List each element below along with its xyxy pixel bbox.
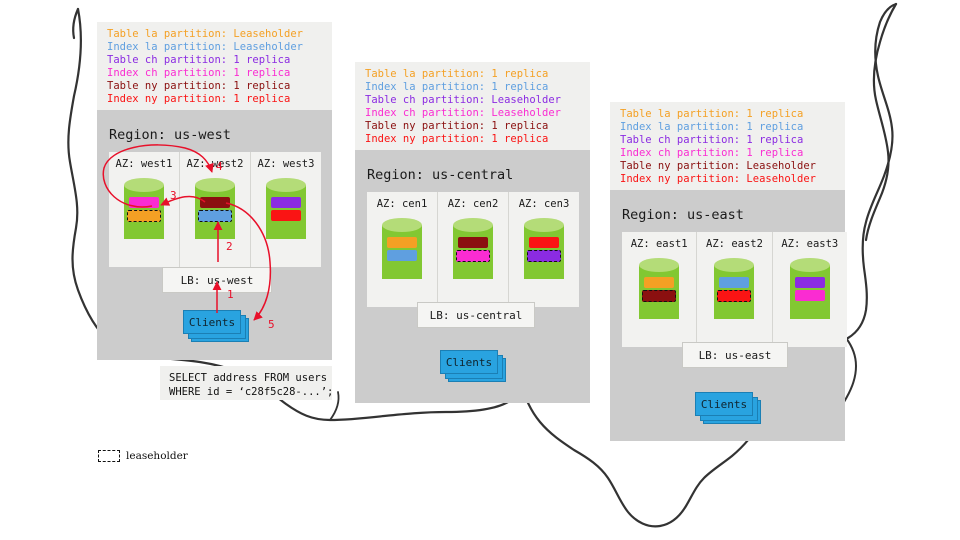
partition-band <box>719 277 749 288</box>
az-strip: AZ: west1 AZ: west2 <box>109 152 321 267</box>
az-label: AZ: east3 <box>773 238 847 250</box>
load-balancer-us-east[interactable]: LB: us-east <box>682 342 788 368</box>
legend-line: Table la partition: 1 replica <box>365 68 582 81</box>
region-panel-us-east: Region: us-east AZ: east1 AZ: east2 <box>610 190 845 441</box>
legend-line: Table la partition: Leaseholder <box>107 28 324 41</box>
az-cell-west1[interactable]: AZ: west1 <box>109 152 179 267</box>
az-cell-cen3[interactable]: AZ: cen3 <box>508 192 579 307</box>
legend-line: Table ch partition: Leaseholder <box>365 94 582 107</box>
legend-line: Index la partition: 1 replica <box>620 121 837 134</box>
diagram-canvas: Table la partition: Leaseholder Index la… <box>0 0 960 540</box>
sql-line-1: SELECT address FROM users <box>169 372 323 386</box>
legend-line: Index ch partition: 1 replica <box>620 147 837 160</box>
partition-band <box>795 290 825 301</box>
az-cell-east3[interactable]: AZ: east3 <box>772 232 847 347</box>
cylinder-top <box>790 258 830 272</box>
legend-line: Table ch partition: 1 replica <box>620 134 837 147</box>
partition-band-leaseholder <box>198 210 232 222</box>
node-cylinder-east2[interactable] <box>714 258 754 326</box>
legend-line: Index ch partition: 1 replica <box>107 67 324 80</box>
az-cell-west3[interactable]: AZ: west3 <box>250 152 321 267</box>
node-cylinder-west3[interactable] <box>266 178 306 246</box>
clients-card[interactable]: Clients <box>440 350 498 374</box>
legend-line: Table la partition: 1 replica <box>620 108 837 121</box>
cylinder-top <box>266 178 306 192</box>
clients-label: Clients <box>701 398 747 411</box>
clients-card[interactable]: Clients <box>695 392 753 416</box>
region-panel-us-central: Region: us-central AZ: cen1 AZ: cen2 <box>355 150 590 403</box>
partition-band-leaseholder <box>717 290 751 302</box>
node-cylinder-east3[interactable] <box>790 258 830 326</box>
partition-band <box>458 237 488 248</box>
sql-line-2: WHERE id = ‘c28f5c28-...’; <box>169 386 323 400</box>
cylinder-top <box>453 218 493 232</box>
region-title: Region: us-west <box>109 127 231 143</box>
node-cylinder-cen2[interactable] <box>453 218 493 286</box>
az-label: AZ: cen2 <box>438 198 508 210</box>
az-label: AZ: cen1 <box>367 198 437 210</box>
cylinder-bottom <box>524 265 564 279</box>
step-number-5: 5 <box>268 318 275 331</box>
partition-band <box>644 277 674 288</box>
legend-line: Index ch partition: Leaseholder <box>365 107 582 120</box>
legend-panel-us-east: Table la partition: 1 replica Index la p… <box>610 102 845 190</box>
partition-band-leaseholder <box>642 290 676 302</box>
step-number-2: 2 <box>226 240 233 253</box>
cylinder-bottom <box>195 225 235 239</box>
az-strip: AZ: cen1 AZ: cen2 <box>367 192 579 307</box>
partition-band <box>271 210 301 221</box>
lb-label: LB: us-east <box>699 349 772 362</box>
lb-label: LB: us-central <box>430 309 523 322</box>
partition-band-leaseholder <box>527 250 561 262</box>
az-label: AZ: west2 <box>180 158 250 170</box>
load-balancer-us-west[interactable]: LB: us-west <box>162 267 272 293</box>
partition-band <box>387 250 417 261</box>
cylinder-top <box>195 178 235 192</box>
partition-band <box>271 197 301 208</box>
partition-band-leaseholder <box>127 210 161 222</box>
legend-line: Table ny partition: Leaseholder <box>620 160 837 173</box>
legend-line: Index la partition: Leaseholder <box>107 41 324 54</box>
node-cylinder-cen3[interactable] <box>524 218 564 286</box>
legend-line: Index la partition: 1 replica <box>365 81 582 94</box>
partition-band <box>129 197 159 208</box>
legend-line: Index ny partition: Leaseholder <box>620 173 837 186</box>
clients-card[interactable]: Clients <box>183 310 241 334</box>
clients-label: Clients <box>189 316 235 329</box>
region-panel-us-west: Region: us-west AZ: west1 AZ: west2 <box>97 110 332 360</box>
lb-label: LB: us-west <box>181 274 254 287</box>
partition-band <box>200 197 230 208</box>
leaseholder-swatch-icon <box>98 450 120 462</box>
step-number-1: 1 <box>227 288 234 301</box>
cylinder-bottom <box>382 265 422 279</box>
cylinder-top <box>639 258 679 272</box>
cylinder-bottom <box>790 305 830 319</box>
clients-us-central[interactable]: Clients <box>440 350 510 384</box>
cylinder-bottom <box>453 265 493 279</box>
az-cell-cen1[interactable]: AZ: cen1 <box>367 192 437 307</box>
clients-label: Clients <box>446 356 492 369</box>
leaseholder-key: leaseholder <box>98 450 188 462</box>
clients-us-west[interactable]: Clients <box>183 310 253 344</box>
sql-query-box: SELECT address FROM users WHERE id = ‘c2… <box>160 366 332 400</box>
cylinder-bottom <box>266 225 306 239</box>
partition-band-leaseholder <box>456 250 490 262</box>
az-cell-east1[interactable]: AZ: east1 <box>622 232 696 347</box>
cylinder-top <box>382 218 422 232</box>
az-label: AZ: east2 <box>697 238 771 250</box>
legend-line: Table ch partition: 1 replica <box>107 54 324 67</box>
legend-line: Table ny partition: 1 replica <box>365 120 582 133</box>
region-title: Region: us-east <box>622 207 744 223</box>
region-title: Region: us-central <box>367 167 513 183</box>
load-balancer-us-central[interactable]: LB: us-central <box>417 302 535 328</box>
az-cell-east2[interactable]: AZ: east2 <box>696 232 771 347</box>
partition-band <box>387 237 417 248</box>
az-label: AZ: cen3 <box>509 198 579 210</box>
cylinder-bottom <box>639 305 679 319</box>
az-label: AZ: west1 <box>109 158 179 170</box>
partition-band <box>529 237 559 248</box>
clients-us-east[interactable]: Clients <box>695 392 765 426</box>
legend-line: Table ny partition: 1 replica <box>107 80 324 93</box>
cylinder-top <box>524 218 564 232</box>
step-number-4: 4 <box>216 160 223 173</box>
node-cylinder-east1[interactable] <box>639 258 679 326</box>
partition-band <box>795 277 825 288</box>
legend-line: Index ny partition: 1 replica <box>365 133 582 146</box>
legend-line: Index ny partition: 1 replica <box>107 93 324 106</box>
legend-panel-us-central: Table la partition: 1 replica Index la p… <box>355 62 590 150</box>
az-cell-cen2[interactable]: AZ: cen2 <box>437 192 508 307</box>
cylinder-top <box>124 178 164 192</box>
node-cylinder-west2[interactable] <box>195 178 235 246</box>
legend-panel-us-west: Table la partition: Leaseholder Index la… <box>97 22 332 110</box>
leaseholder-key-label: leaseholder <box>126 450 188 462</box>
node-cylinder-cen1[interactable] <box>382 218 422 286</box>
node-cylinder-west1[interactable] <box>124 178 164 246</box>
az-strip: AZ: east1 AZ: east2 <box>622 232 847 347</box>
cylinder-bottom <box>124 225 164 239</box>
az-cell-west2[interactable]: AZ: west2 <box>179 152 250 267</box>
az-label: AZ: west3 <box>251 158 321 170</box>
az-label: AZ: east1 <box>622 238 696 250</box>
step-number-3: 3 <box>170 189 177 202</box>
